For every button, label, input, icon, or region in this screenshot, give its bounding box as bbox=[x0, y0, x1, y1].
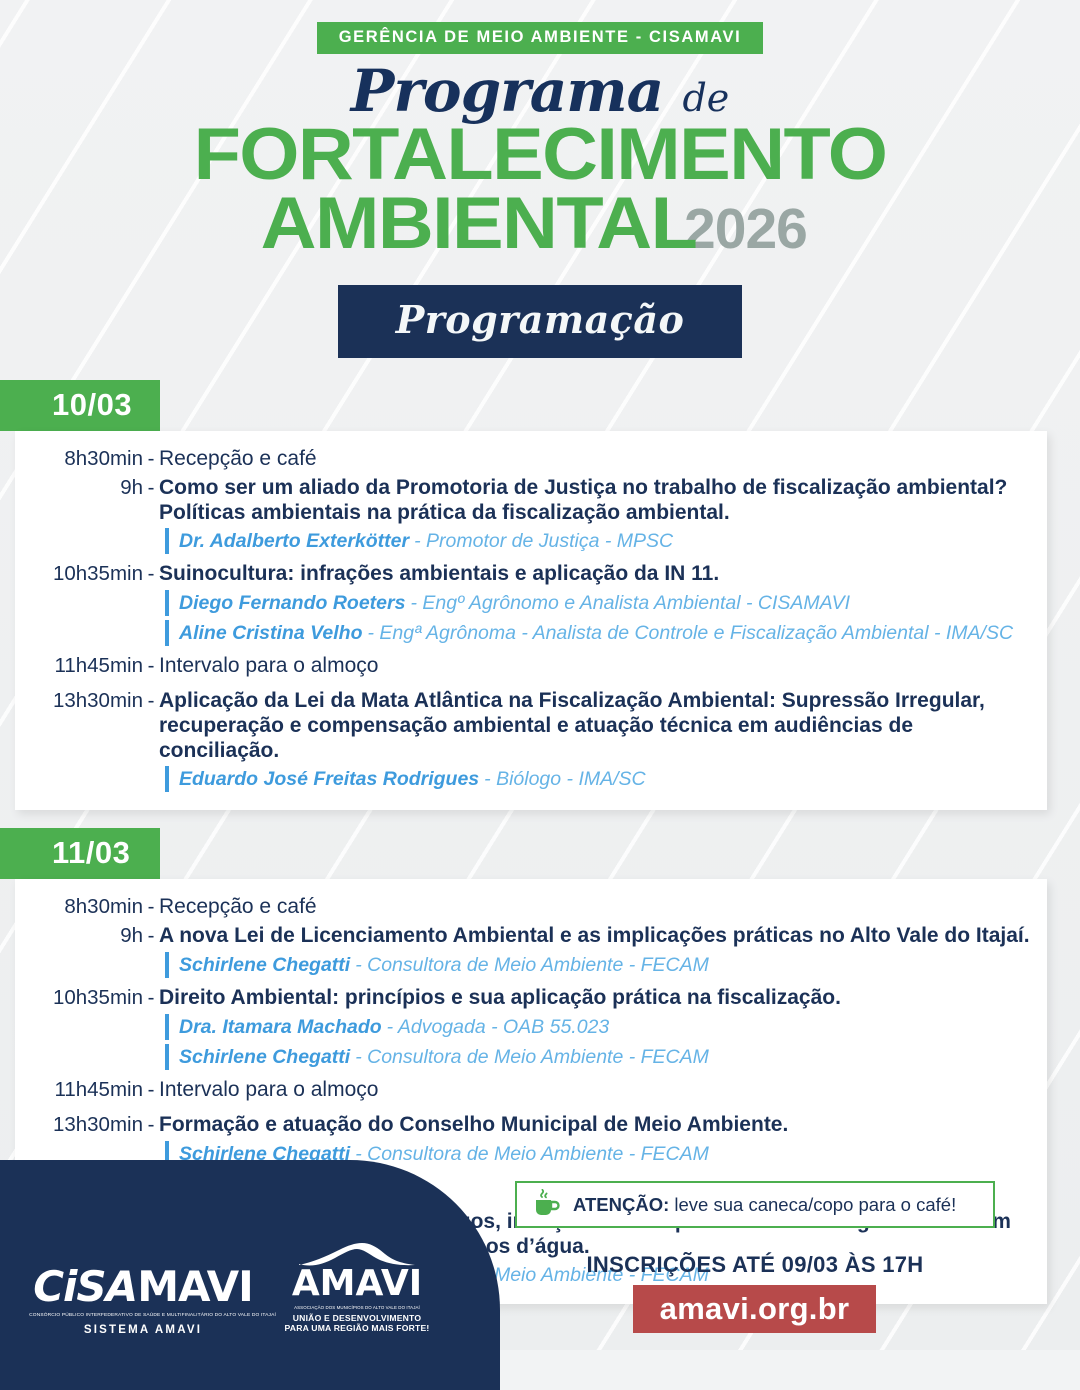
row-time: 8h30min bbox=[15, 893, 143, 920]
row-speakers: Dra. Itamara Machado - Advogada - OAB 55… bbox=[15, 1014, 1031, 1070]
amavi-tagline: ASSOCIAÇÃO DOS MUNICÍPIOS DO ALTO VALE D… bbox=[282, 1305, 432, 1310]
speaker-entry: Dr. Adalberto Exterkötter - Promotor de … bbox=[165, 528, 1031, 554]
speaker-name: Schirlene Chegatti bbox=[179, 953, 350, 977]
speaker-role: - Biólogo - IMA/SC bbox=[484, 767, 645, 791]
amavi-slogan-line2: PARA UMA REGIÃO MAIS FORTE! bbox=[282, 1323, 432, 1334]
row-time: 10h35min bbox=[15, 984, 143, 1011]
row-speakers: Diego Fernando Roeters - Engº Agrônomo e… bbox=[15, 590, 1031, 646]
row-dash: - bbox=[143, 560, 159, 587]
programacao-label: Programação bbox=[396, 297, 685, 342]
flyer-page: GERÊNCIA DE MEIO AMBIENTE - CISAMAVI Pro… bbox=[0, 0, 1080, 1350]
programacao-badge: Programação bbox=[338, 285, 743, 358]
speaker-name: Diego Fernando Roeters bbox=[179, 591, 405, 615]
speaker-entry: Diego Fernando Roeters - Engº Agrônomo e… bbox=[165, 590, 1031, 616]
row-time: 11h45min bbox=[15, 1076, 143, 1103]
row-topic: A nova Lei de Licenciamento Ambiental e … bbox=[159, 922, 1030, 948]
speaker-role: - Engª Agrônoma - Analista de Controle e… bbox=[367, 621, 1013, 645]
row-topic: Formação e atuação do Conselho Municipal… bbox=[159, 1111, 788, 1137]
cisamavi-wordmark: CiSAMAVI bbox=[28, 1262, 258, 1311]
row-time: 9h bbox=[15, 474, 143, 501]
row-speakers: Dr. Adalberto Exterkötter - Promotor de … bbox=[15, 528, 1031, 554]
schedule-row: 13h30min - Aplicação da Lei da Mata Atlâ… bbox=[15, 687, 1031, 763]
speaker-entry: Aline Cristina Velho - Engª Agrônoma - A… bbox=[165, 620, 1031, 646]
row-dash: - bbox=[143, 1076, 159, 1103]
speaker-role: - Engº Agrônomo e Analista Ambiental - C… bbox=[410, 591, 850, 615]
schedule-row: 11h45min - Intervalo para o almoço bbox=[15, 652, 1031, 679]
footer-logos: CiSAMAVI CONSÓRCIO PÚBLICO INTERFEDERATI… bbox=[0, 1226, 470, 1344]
row-dash: - bbox=[143, 893, 159, 920]
speaker-name: Dr. Adalberto Exterkötter bbox=[179, 529, 409, 553]
row-time: 13h30min bbox=[15, 1111, 143, 1138]
row-dash: - bbox=[143, 984, 159, 1011]
row-topic: Direito Ambiental: princípios e sua apli… bbox=[159, 984, 841, 1010]
row-dash: - bbox=[143, 652, 159, 679]
cisamavi-wordmark-part1: CiSA bbox=[33, 1262, 137, 1311]
speaker-name: Eduardo José Freitas Rodrigues bbox=[179, 767, 479, 791]
row-time: 11h45min bbox=[15, 652, 143, 679]
day-date-badge-1: 10/03 bbox=[0, 380, 160, 431]
speaker-role: - Advogada - OAB 55.023 bbox=[387, 1015, 610, 1039]
speaker-role: - Promotor de Justiça - MPSC bbox=[414, 529, 673, 553]
row-topic: Intervalo para o almoço bbox=[159, 1076, 378, 1102]
title-fortalecimento: FORTALECIMENTO bbox=[0, 121, 1080, 188]
row-topic: Aplicação da Lei da Mata Atlântica na Fi… bbox=[159, 687, 1019, 763]
speaker-role: - Consultora de Meio Ambiente - FECAM bbox=[355, 1142, 709, 1166]
row-topic: Recepção e café bbox=[159, 893, 317, 919]
row-speakers: Schirlene Chegatti - Consultora de Meio … bbox=[15, 952, 1031, 978]
row-time: 8h30min bbox=[15, 445, 143, 472]
cisamavi-wordmark-part2: MAVI bbox=[137, 1262, 253, 1311]
row-topic: Intervalo para o almoço bbox=[159, 652, 378, 678]
title-year: 2026 bbox=[684, 197, 807, 261]
row-time: 10h35min bbox=[15, 560, 143, 587]
speaker-name: Schirlene Chegatti bbox=[179, 1045, 350, 1069]
amavi-slogan: UNIÃO E DESENVOLVIMENTO PARA UMA REGIÃO … bbox=[282, 1313, 432, 1334]
row-dash: - bbox=[143, 922, 159, 949]
row-topic: Como ser um aliado da Promotoria de Just… bbox=[159, 474, 1014, 525]
schedule-row: 9h - A nova Lei de Licenciamento Ambient… bbox=[15, 922, 1031, 949]
row-dash: - bbox=[143, 687, 159, 714]
speaker-name: Dra. Itamara Machado bbox=[179, 1015, 382, 1039]
title-script-line: Programa de bbox=[0, 62, 1080, 121]
schedule-row: 8h30min - Recepção e café bbox=[15, 893, 1031, 920]
schedule-row: 9h - Como ser um aliado da Promotoria de… bbox=[15, 474, 1031, 525]
speaker-role: - Consultora de Meio Ambiente - FECAM bbox=[355, 953, 709, 977]
row-dash: - bbox=[143, 445, 159, 472]
speaker-entry: Eduardo José Freitas Rodrigues - Biólogo… bbox=[165, 766, 1031, 792]
row-topic: Suinocultura: infrações ambientais e apl… bbox=[159, 560, 719, 586]
footer: CiSAMAVI CONSÓRCIO PÚBLICO INTERFEDERATI… bbox=[0, 1195, 1080, 1350]
amavi-wordmark: AMAVI bbox=[282, 1263, 432, 1304]
amavi-slogan-line1: UNIÃO E DESENVOLVIMENTO bbox=[282, 1313, 432, 1324]
schedule-row: 13h30min - Formação e atuação do Conselh… bbox=[15, 1111, 1031, 1138]
schedule-row: 10h35min - Direito Ambiental: princípios… bbox=[15, 984, 1031, 1011]
cisamavi-logo: CiSAMAVI CONSÓRCIO PÚBLICO INTERFEDERATI… bbox=[28, 1262, 258, 1336]
title-block: Programa de FORTALECIMENTO AMBIENTAL2026 bbox=[0, 62, 1080, 257]
row-speakers: Eduardo José Freitas Rodrigues - Biólogo… bbox=[15, 766, 1031, 792]
row-dash: - bbox=[143, 474, 159, 501]
row-dash: - bbox=[143, 1111, 159, 1138]
schedule-row: 8h30min - Recepção e café bbox=[15, 445, 1031, 472]
cisamavi-system-label: SISTEMA AMAVI bbox=[28, 1324, 258, 1336]
cisamavi-tagline: CONSÓRCIO PÚBLICO INTERFEDERATIVO DE SAÚ… bbox=[29, 1313, 257, 1318]
row-topic: Recepção e café bbox=[159, 445, 317, 471]
row-time: 13h30min bbox=[15, 687, 143, 714]
title-row2: AMBIENTAL2026 bbox=[0, 190, 1080, 257]
day-schedule-card-1: 8h30min - Recepção e café 9h - Como ser … bbox=[15, 431, 1047, 810]
schedule-row: 10h35min - Suinocultura: infrações ambie… bbox=[15, 560, 1031, 587]
speaker-entry: Dra. Itamara Machado - Advogada - OAB 55… bbox=[165, 1014, 1031, 1040]
speaker-name: Aline Cristina Velho bbox=[179, 621, 362, 645]
schedule-row: 11h45min - Intervalo para o almoço bbox=[15, 1076, 1031, 1103]
kicker-badge: GERÊNCIA DE MEIO AMBIENTE - CISAMAVI bbox=[317, 22, 764, 54]
speaker-role: - Consultora de Meio Ambiente - FECAM bbox=[355, 1045, 709, 1069]
amavi-logo: AMAVI ASSOCIAÇÃO DOS MUNICÍPIOS DO ALTO … bbox=[282, 1241, 432, 1334]
kicker-container: GERÊNCIA DE MEIO AMBIENTE - CISAMAVI bbox=[0, 0, 1080, 54]
title-ambiental: AMBIENTAL bbox=[261, 190, 697, 257]
speaker-entry: Schirlene Chegatti - Consultora de Meio … bbox=[165, 952, 1031, 978]
section-badge-container: Programação bbox=[0, 285, 1080, 358]
row-time: 9h bbox=[15, 922, 143, 949]
speaker-entry: Schirlene Chegatti - Consultora de Meio … bbox=[165, 1044, 1031, 1070]
day-date-badge-2: 11/03 bbox=[0, 828, 160, 879]
day-block-1: 10/03 8h30min - Recepção e café 9h - Com… bbox=[0, 380, 1080, 810]
